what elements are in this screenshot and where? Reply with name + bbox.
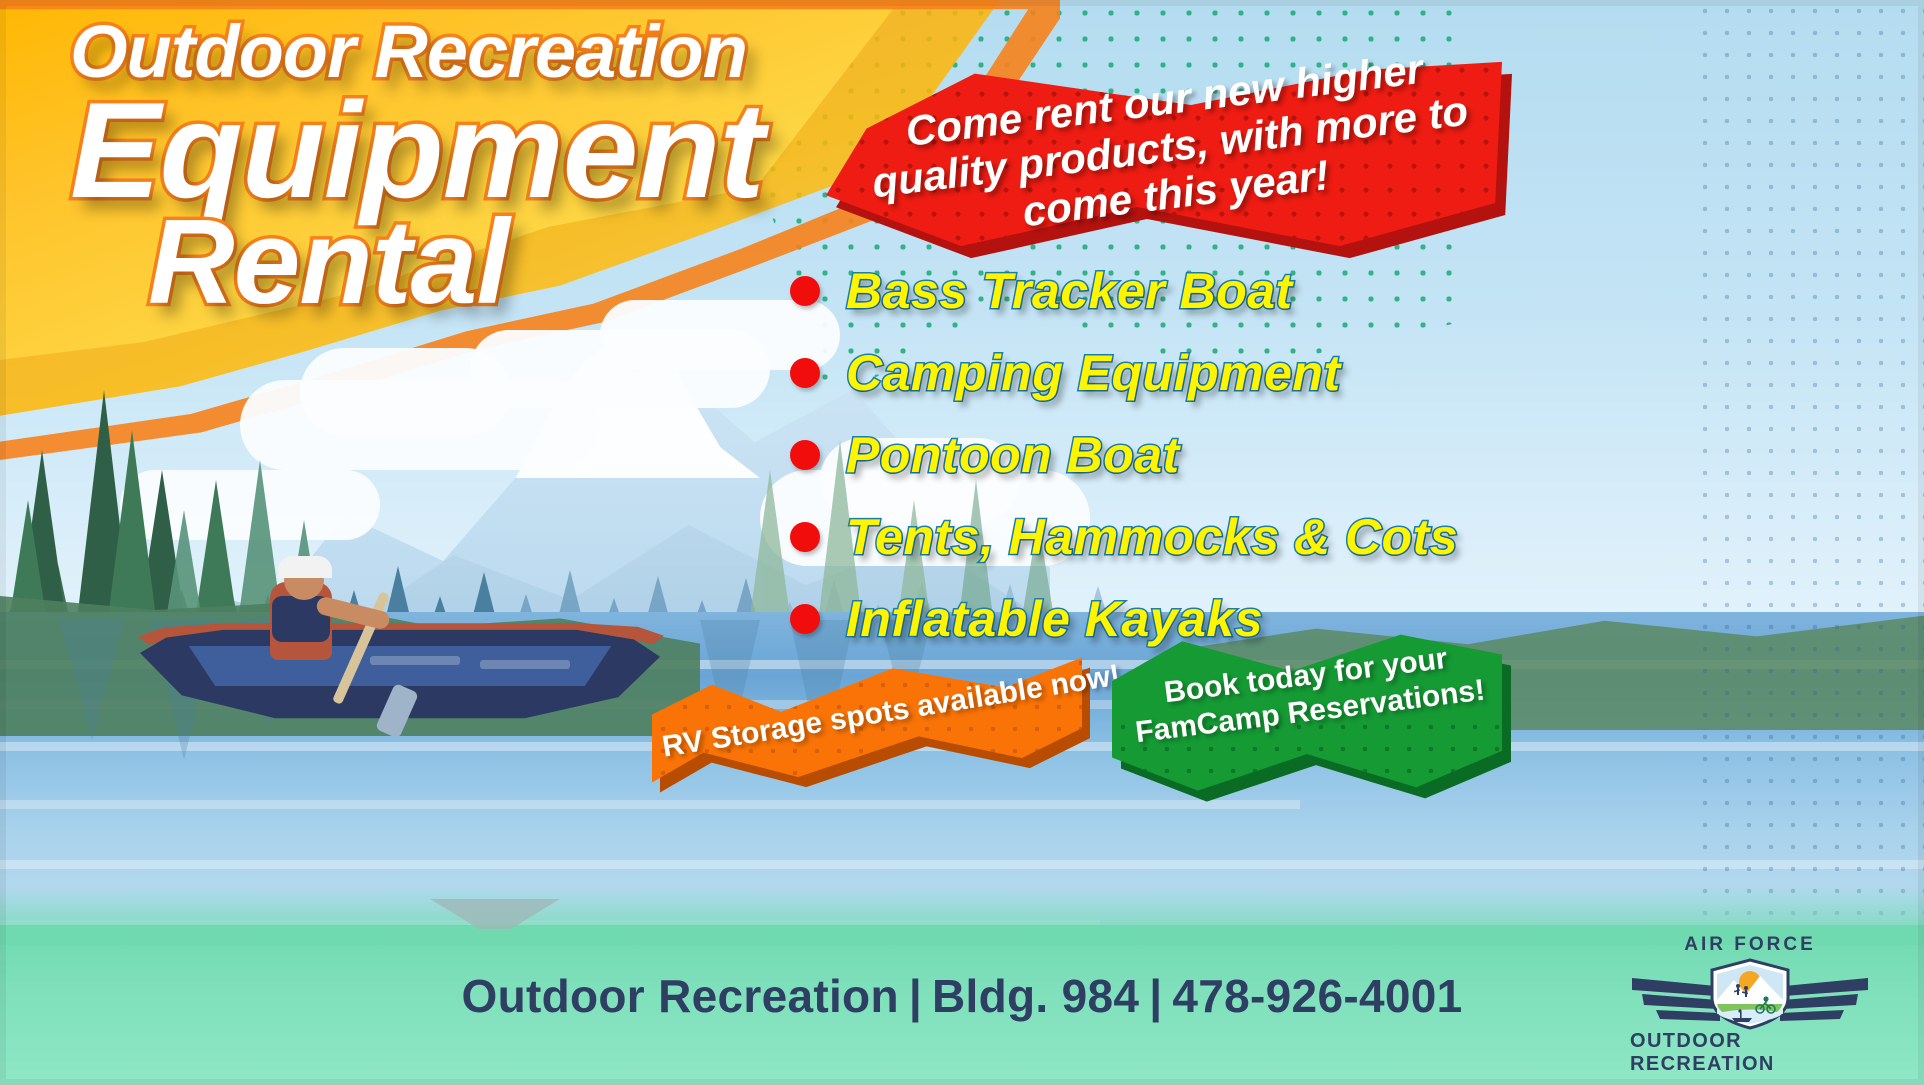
bullet-dot-icon bbox=[790, 358, 820, 388]
poster: Outdoor Recreation Equipment Rental Come… bbox=[0, 0, 1924, 1085]
footer: Outdoor Recreation|Bldg. 984|478-926-400… bbox=[0, 925, 1924, 1085]
list-item: Tents, Hammocks & Cots bbox=[790, 508, 1890, 566]
paddler-cap bbox=[278, 556, 332, 578]
footer-building: Bldg. 984 bbox=[932, 970, 1139, 1022]
list-item: Camping Equipment bbox=[790, 344, 1890, 402]
footer-org: Outdoor Recreation bbox=[462, 970, 899, 1022]
headline: Outdoor Recreation Equipment Rental bbox=[70, 18, 764, 318]
footer-separator-1: | bbox=[899, 970, 932, 1022]
water-highlight bbox=[0, 800, 1300, 809]
promo-callout-green: Book today for your FamCamp Reservations… bbox=[1112, 628, 1502, 798]
promo-callout-orange: RV Storage spots available now! bbox=[652, 652, 1082, 792]
logo-wings-and-shield-icon bbox=[1630, 956, 1870, 1030]
canoe-seat bbox=[370, 656, 460, 665]
logo-top-text: AIR FORCE bbox=[1684, 934, 1816, 956]
bullet-dot-icon bbox=[790, 440, 820, 470]
list-item: Pontoon Boat bbox=[790, 426, 1890, 484]
canoe-seat bbox=[480, 660, 570, 669]
equipment-list: Bass Tracker Boat Camping Equipment Pont… bbox=[790, 262, 1890, 672]
water-highlight bbox=[0, 860, 1924, 869]
list-item-label: Tents, Hammocks & Cots bbox=[846, 508, 1458, 566]
footer-separator-2: | bbox=[1139, 970, 1172, 1022]
logo-bottom-text: OUTDOOR RECREATION bbox=[1630, 1030, 1870, 1076]
bullet-dot-icon bbox=[790, 276, 820, 306]
list-item-label: Bass Tracker Boat bbox=[846, 262, 1293, 320]
list-item-label: Camping Equipment bbox=[846, 344, 1341, 402]
list-item-label: Pontoon Boat bbox=[846, 426, 1180, 484]
bullet-dot-icon bbox=[790, 522, 820, 552]
air-force-outdoor-recreation-logo: AIR FORCE bbox=[1630, 935, 1870, 1075]
bullet-dot-icon bbox=[790, 604, 820, 634]
logo-emblem bbox=[1630, 956, 1870, 1030]
footer-phone: 478-926-4001 bbox=[1172, 970, 1462, 1022]
list-item: Bass Tracker Boat bbox=[790, 262, 1890, 320]
cloud bbox=[300, 348, 510, 436]
promo-callout-red: Come rent our new higher quality product… bbox=[826, 58, 1502, 258]
canoe-with-paddler bbox=[120, 560, 680, 760]
